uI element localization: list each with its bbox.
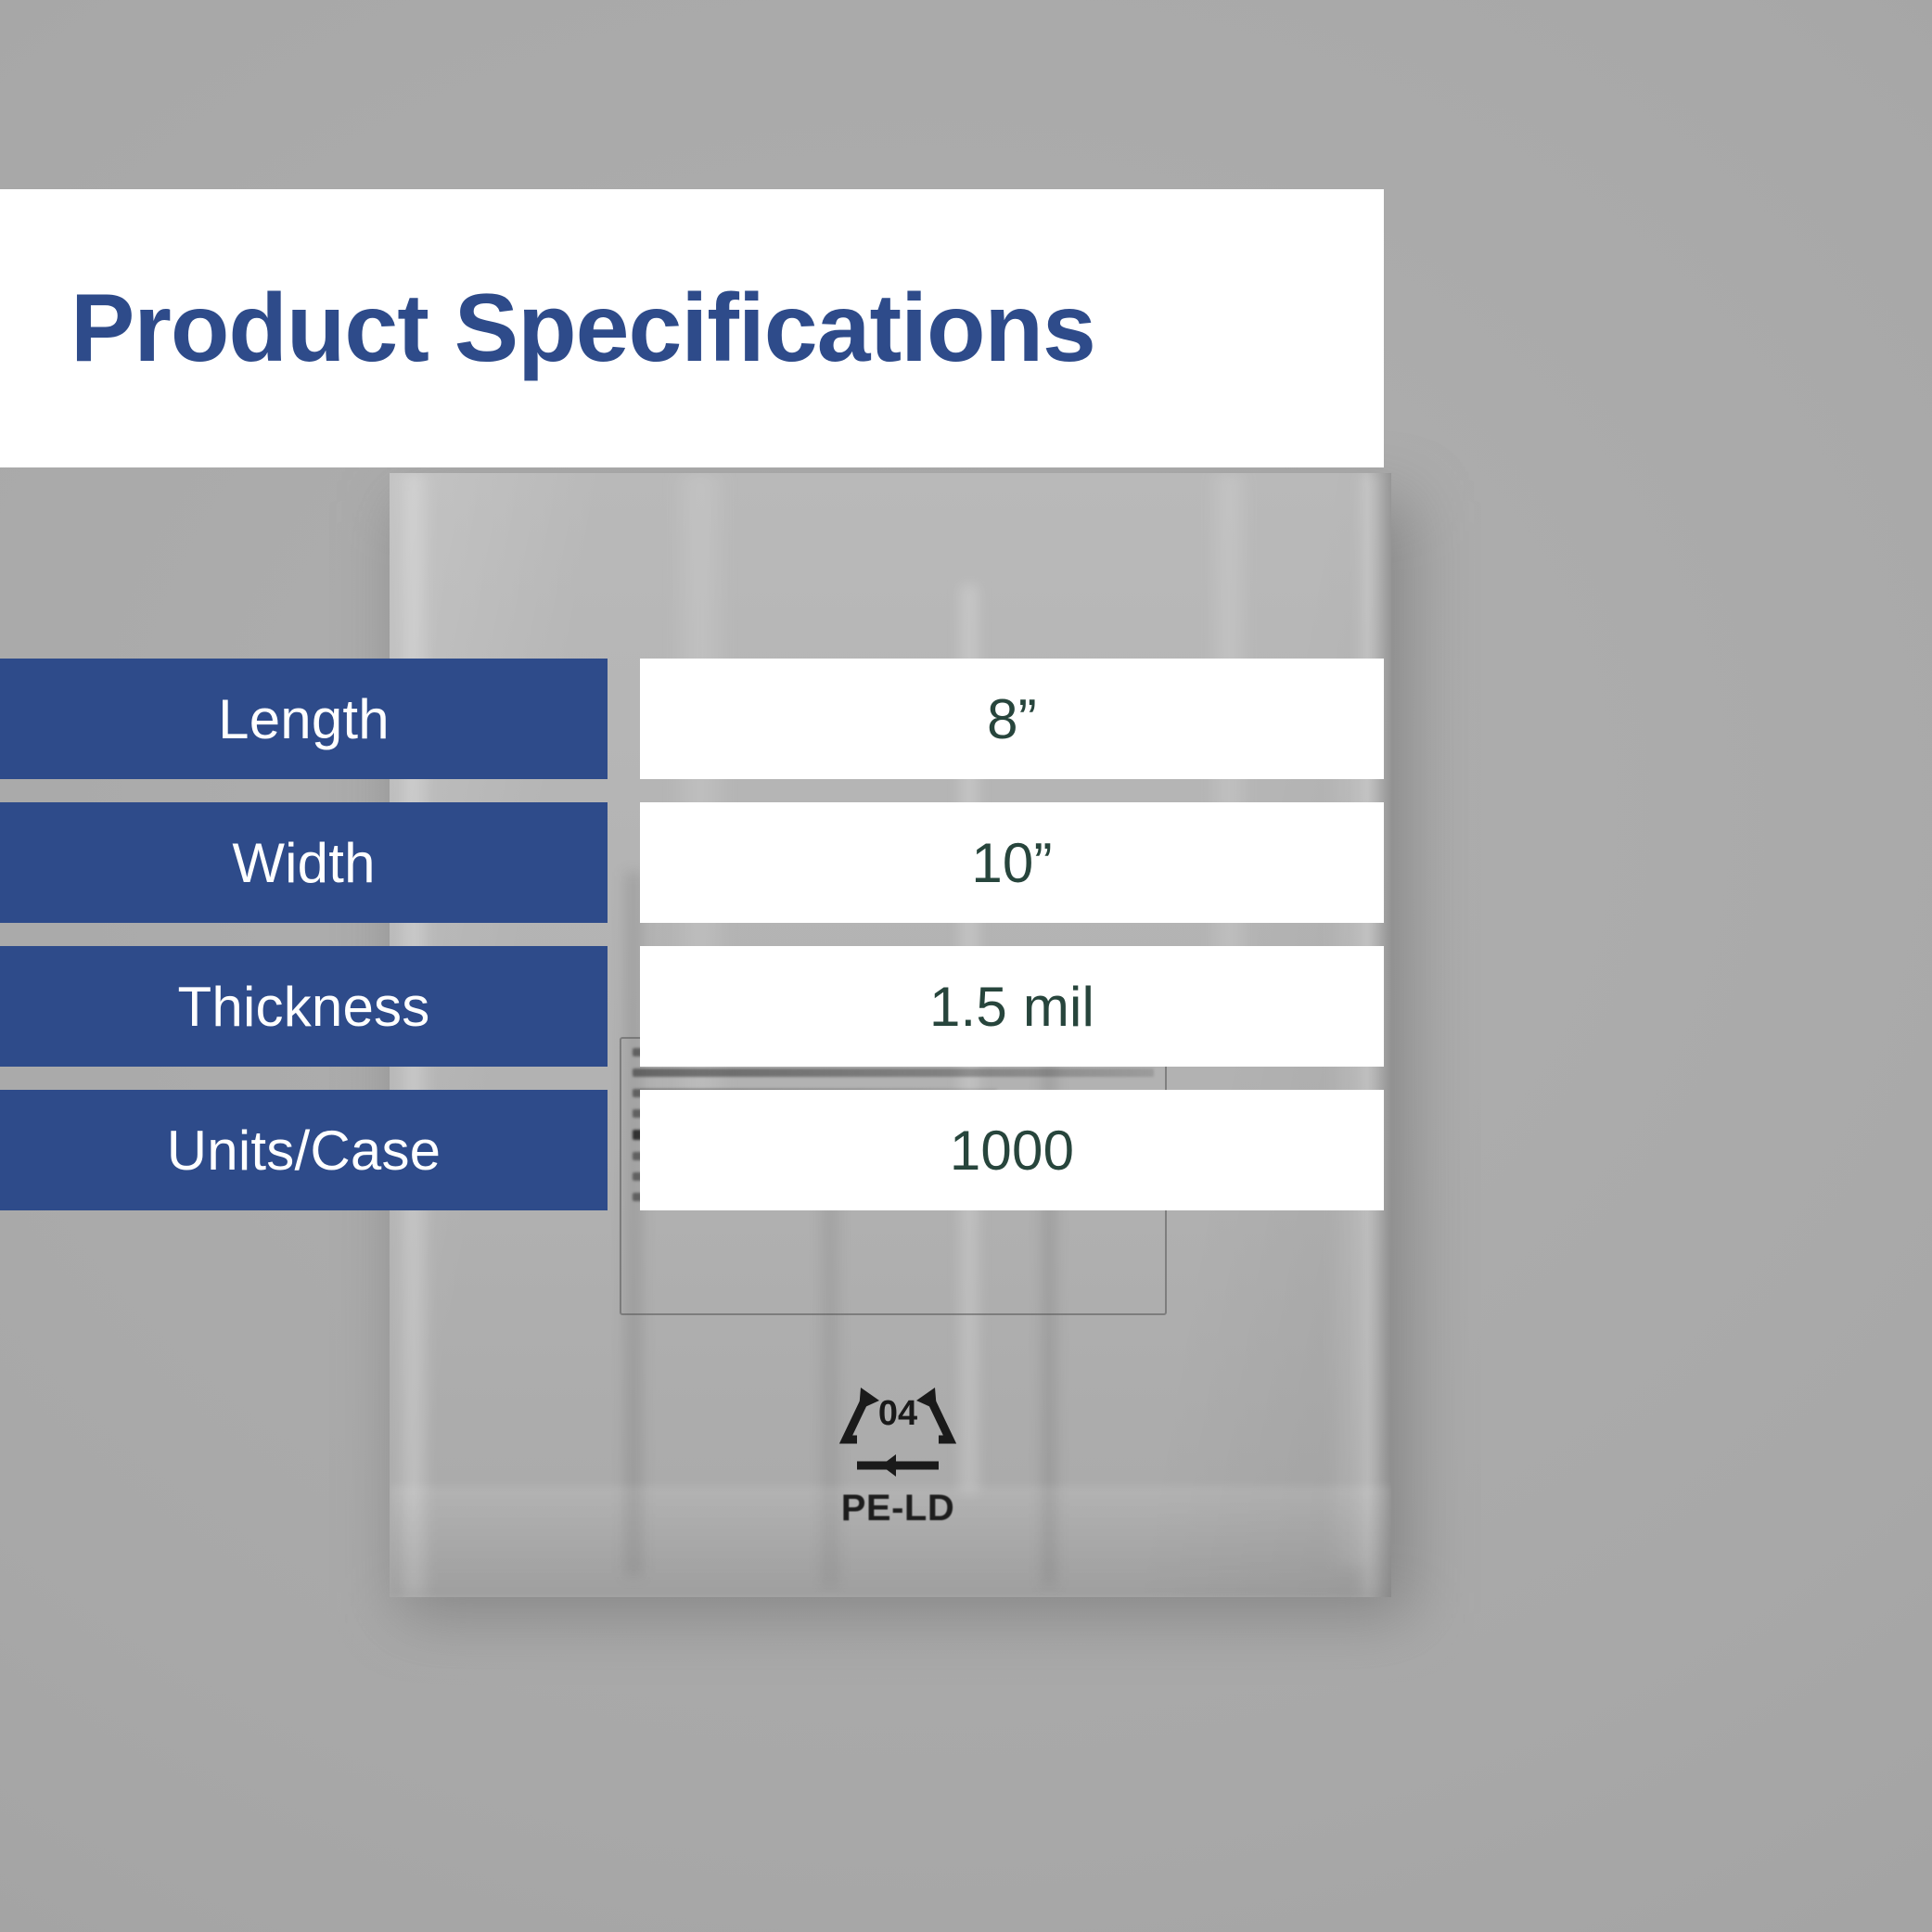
spec-label-text: Thickness (178, 975, 430, 1039)
page-title: Product Specifications (70, 280, 1095, 377)
spec-value-cell: 1000 (640, 1090, 1384, 1210)
spec-label-text: Length (218, 687, 390, 751)
spec-value-cell: 1.5 mil (640, 946, 1384, 1067)
table-row: Thickness 1.5 mil (0, 946, 1384, 1067)
product-specification-graphic: 04 PE-LD Product Specifications Length 8… (0, 0, 1932, 1932)
table-row: Units/Case 1000 (0, 1090, 1384, 1210)
spec-value-cell: 10” (640, 802, 1384, 923)
svg-text:04: 04 (878, 1394, 917, 1433)
recycling-triangle-icon: 04 (838, 1386, 957, 1486)
spec-value-text: 8” (987, 687, 1037, 751)
recycling-material-code: PE-LD (824, 1488, 972, 1529)
spec-label-cell: Thickness (0, 946, 608, 1067)
spec-label-cell: Width (0, 802, 608, 923)
title-banner: Product Specifications (0, 189, 1384, 467)
spec-label-text: Units/Case (167, 1119, 441, 1183)
spec-label-cell: Length (0, 659, 608, 779)
table-row: Length 8” (0, 659, 1384, 779)
specification-table: Length 8” Width 10” Thickness 1.5 mil (0, 659, 1384, 1234)
recycling-mark: 04 PE-LD (824, 1386, 972, 1534)
spec-label-cell: Units/Case (0, 1090, 608, 1210)
spec-value-text: 1000 (950, 1119, 1074, 1183)
table-row: Width 10” (0, 802, 1384, 923)
spec-value-text: 1.5 mil (929, 975, 1094, 1039)
spec-value-cell: 8” (640, 659, 1384, 779)
spec-label-text: Width (232, 831, 375, 895)
spec-value-text: 10” (971, 831, 1052, 895)
